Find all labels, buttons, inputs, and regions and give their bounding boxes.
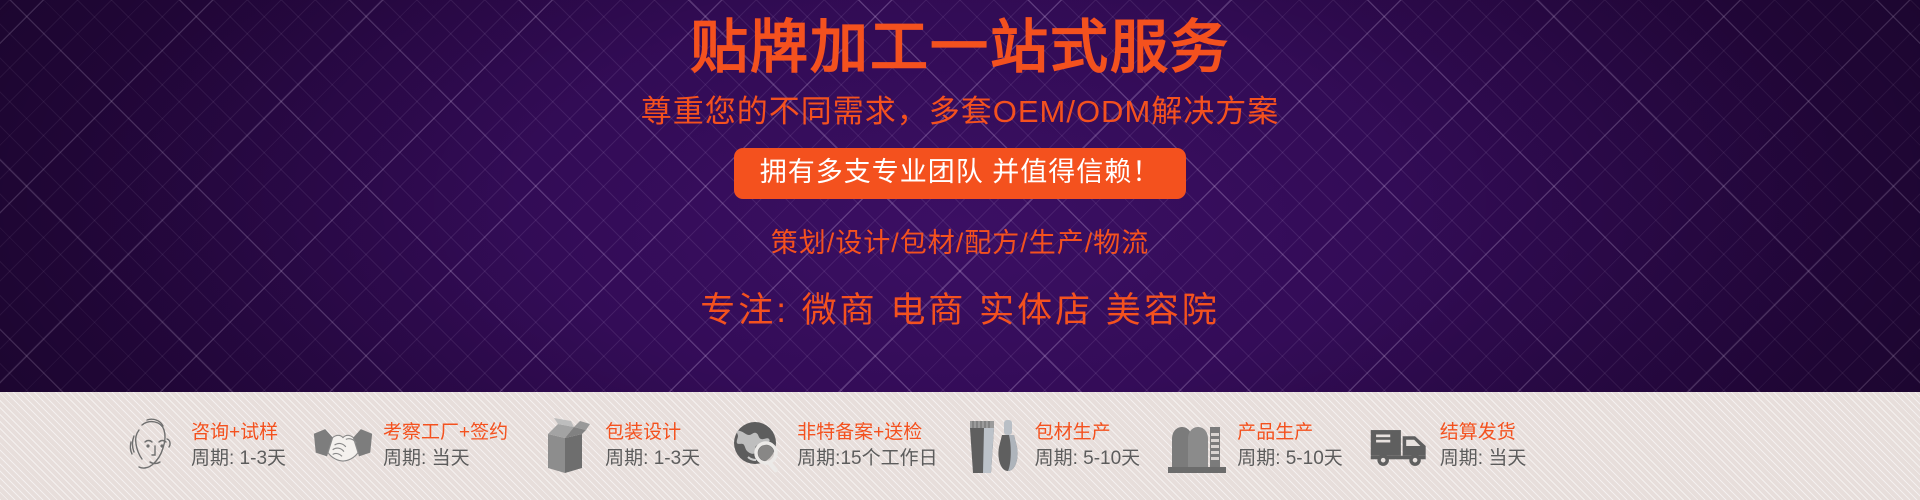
process-step: 包材生产 周期: 5-10天 <box>964 415 1141 477</box>
trust-badge: 拥有多支专业团队 并值得信赖！ <box>734 148 1187 199</box>
process-step: 咨询+试样 周期: 1-3天 <box>120 415 286 477</box>
banner-title: 贴牌加工一站式服务 <box>690 18 1230 79</box>
carton-box-icon <box>534 415 596 477</box>
banner-subtitle: 尊重您的不同需求，多套OEM/ODM解决方案 <box>641 93 1280 130</box>
face-consult-icon <box>120 415 182 477</box>
process-step-sub: 周期:15个工作日 <box>797 446 937 472</box>
process-steps-list: 咨询+试样 周期: 1-3天 <box>0 415 1920 477</box>
cosmetic-tube-icon <box>964 415 1026 477</box>
process-step-sub: 周期: 5-10天 <box>1035 446 1141 472</box>
process-step-text: 包装设计 周期: 1-3天 <box>605 420 700 471</box>
process-step-title: 考察工厂+签约 <box>383 420 508 446</box>
process-step: 结算发货 周期: 当天 <box>1369 415 1527 477</box>
process-step-title: 咨询+试样 <box>191 420 286 446</box>
focus-line: 专注: 微商 电商 实体店 美容院 <box>700 282 1220 333</box>
delivery-truck-icon <box>1369 415 1431 477</box>
process-step-title: 结算发货 <box>1440 420 1527 446</box>
process-step-sub: 周期: 1-3天 <box>605 446 700 472</box>
globe-search-icon <box>726 415 788 477</box>
process-step-title: 产品生产 <box>1237 420 1343 446</box>
process-step: 考察工厂+签约 周期: 当天 <box>312 415 508 477</box>
process-step-text: 考察工厂+签约 周期: 当天 <box>383 420 508 471</box>
process-step: 非特备案+送检 周期:15个工作日 <box>726 415 937 477</box>
process-step-sub: 周期: 当天 <box>1440 446 1527 472</box>
process-step-title: 包装设计 <box>605 420 700 446</box>
process-step-sub: 周期: 当天 <box>383 446 508 472</box>
process-step-sub: 周期: 5-10天 <box>1237 446 1343 472</box>
process-step-text: 包材生产 周期: 5-10天 <box>1035 420 1141 471</box>
process-step-sub: 周期: 1-3天 <box>191 446 286 472</box>
process-step: 产品生产 周期: 5-10天 <box>1166 415 1343 477</box>
services-line: 策划/设计/包材/配方/生产/物流 <box>771 221 1150 260</box>
process-bar: 咨询+试样 周期: 1-3天 <box>0 392 1920 500</box>
promo-banner: 贴牌加工一站式服务 尊重您的不同需求，多套OEM/ODM解决方案 拥有多支专业团… <box>0 0 1920 500</box>
factory-icon <box>1166 415 1228 477</box>
process-step-title: 包材生产 <box>1035 420 1141 446</box>
process-step-title: 非特备案+送检 <box>797 420 937 446</box>
process-step-text: 咨询+试样 周期: 1-3天 <box>191 420 286 471</box>
process-step-text: 产品生产 周期: 5-10天 <box>1237 420 1343 471</box>
process-step-text: 非特备案+送检 周期:15个工作日 <box>797 420 937 471</box>
process-step: 包装设计 周期: 1-3天 <box>534 415 700 477</box>
handshake-icon <box>312 415 374 477</box>
process-step-text: 结算发货 周期: 当天 <box>1440 420 1527 471</box>
hero-content: 贴牌加工一站式服务 尊重您的不同需求，多套OEM/ODM解决方案 拥有多支专业团… <box>0 0 1920 392</box>
